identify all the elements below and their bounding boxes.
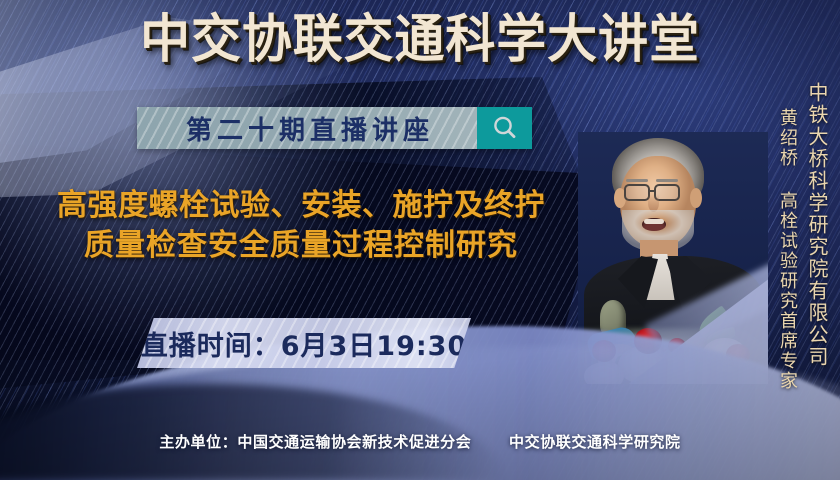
- broadcast-time-badge: 直播时间：6月3日19:30: [137, 318, 471, 368]
- search-button[interactable]: [477, 107, 532, 149]
- organizer-primary: 主办单位：中国交通运输协会新技术促进分会: [159, 433, 471, 451]
- page-title: 中交协联交通科学大讲堂: [17, 14, 823, 66]
- lecture-topic: 高强度螺栓试验、安装、施拧及终拧 质量检查安全质量过程控制研究: [6, 186, 596, 266]
- live-stream-poster: 中交协联交通科学大讲堂 第二十期直播讲座 高强度螺栓试验、安装、施拧及终拧 质量…: [0, 0, 840, 480]
- organizer-secondary: 中交协联交通科学研究院: [509, 433, 681, 451]
- episode-label: 第二十期直播讲座: [137, 107, 477, 149]
- search-icon: [490, 113, 520, 143]
- broadcast-time-text: 直播时间：6月3日19:30: [141, 324, 468, 363]
- organizer-line: 主办单位：中国交通运输协会新技术促进分会 中交协联交通科学研究院: [0, 431, 840, 452]
- episode-banner: 第二十期直播讲座: [137, 107, 532, 149]
- topic-line-1: 高强度螺栓试验、安装、施拧及终拧: [6, 186, 596, 226]
- speaker-name-role: 黄绍桥 高栓试验研究首席专家: [774, 108, 800, 391]
- speaker-organization: 中铁大桥科学研究院有限公司: [803, 82, 832, 368]
- topic-line-2: 质量检查安全质量过程控制研究: [6, 226, 596, 266]
